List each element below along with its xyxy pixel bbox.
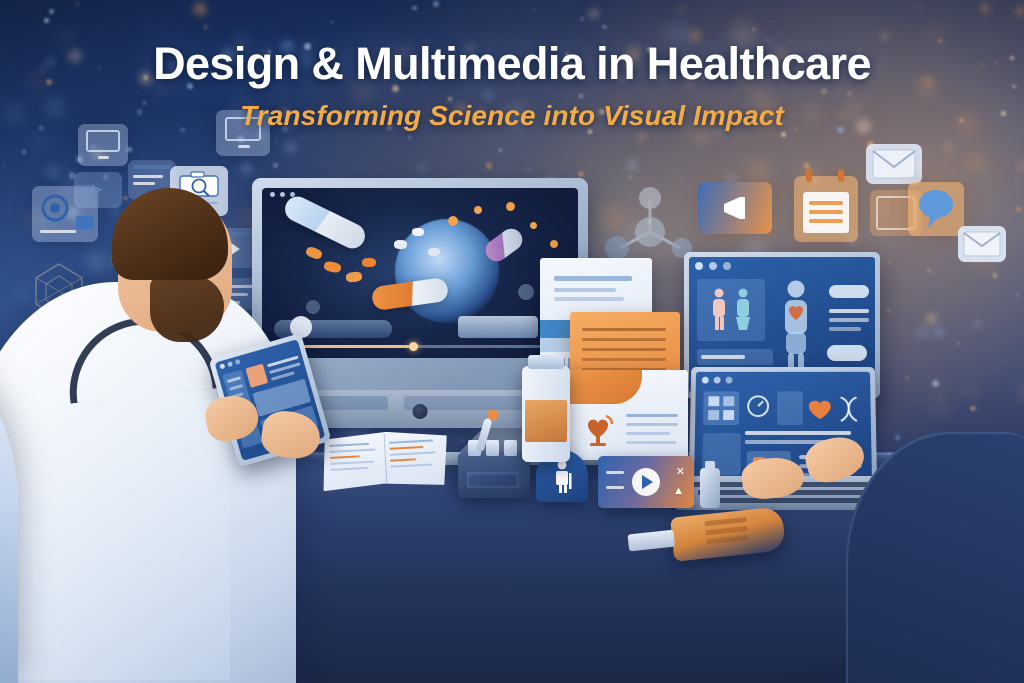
bottle-label bbox=[525, 400, 567, 442]
mail-icon bbox=[963, 231, 1001, 257]
leaflet-flap bbox=[566, 370, 642, 404]
video-player-card[interactable]: ✕ ▲ bbox=[598, 456, 694, 508]
monitor-home-button[interactable] bbox=[413, 404, 428, 419]
calendar-doc-card bbox=[794, 176, 858, 242]
body-figures-icon bbox=[703, 287, 759, 333]
folded-leaflet bbox=[566, 370, 688, 460]
mail-card-2 bbox=[958, 226, 1006, 262]
page-subtitle: Transforming Science into Visual Impact bbox=[0, 100, 1024, 132]
svg-text:</>: </> bbox=[82, 183, 102, 196]
sample-analyzer[interactable] bbox=[458, 452, 530, 498]
small-vial bbox=[700, 468, 720, 508]
mail-icon bbox=[872, 149, 916, 179]
code-window-card: </> bbox=[74, 172, 122, 208]
heart-icon bbox=[807, 397, 833, 421]
chat-bubble-card bbox=[908, 182, 964, 236]
heart-glass-icon bbox=[578, 406, 618, 448]
bottle-cap bbox=[528, 355, 564, 369]
target-icon bbox=[40, 193, 70, 223]
dna-icon bbox=[837, 395, 861, 423]
poster-scene: </> bbox=[0, 0, 1024, 683]
chevron-up-icon[interactable]: ▲ bbox=[673, 486, 684, 497]
molecular-cluster bbox=[395, 219, 499, 323]
anatomy-figure-icon bbox=[773, 279, 819, 375]
megaphone-card bbox=[698, 182, 772, 234]
capsule-large bbox=[281, 192, 369, 252]
play-triangle-icon bbox=[642, 475, 653, 489]
analyzer-display bbox=[467, 472, 519, 488]
megaphone-icon bbox=[720, 194, 754, 222]
doctor-beard bbox=[150, 276, 224, 342]
page-title: Design & Multimedia in Healthcare bbox=[0, 38, 1024, 90]
code-icon: </> bbox=[82, 182, 112, 196]
monitor-screen[interactable] bbox=[262, 188, 578, 358]
open-journal bbox=[321, 429, 450, 492]
video-progress-knob[interactable] bbox=[409, 342, 418, 351]
video-progress-bar[interactable] bbox=[281, 345, 559, 348]
person-icon bbox=[547, 459, 577, 495]
mail-card-1 bbox=[866, 144, 922, 184]
medicine-bottle bbox=[522, 366, 570, 462]
headline-block: Design & Multimedia in Healthcare Transf… bbox=[0, 38, 1024, 132]
close-icon[interactable]: ✕ bbox=[676, 467, 685, 478]
gauge-icon bbox=[745, 393, 771, 419]
chat-bubble-icon bbox=[914, 186, 958, 230]
